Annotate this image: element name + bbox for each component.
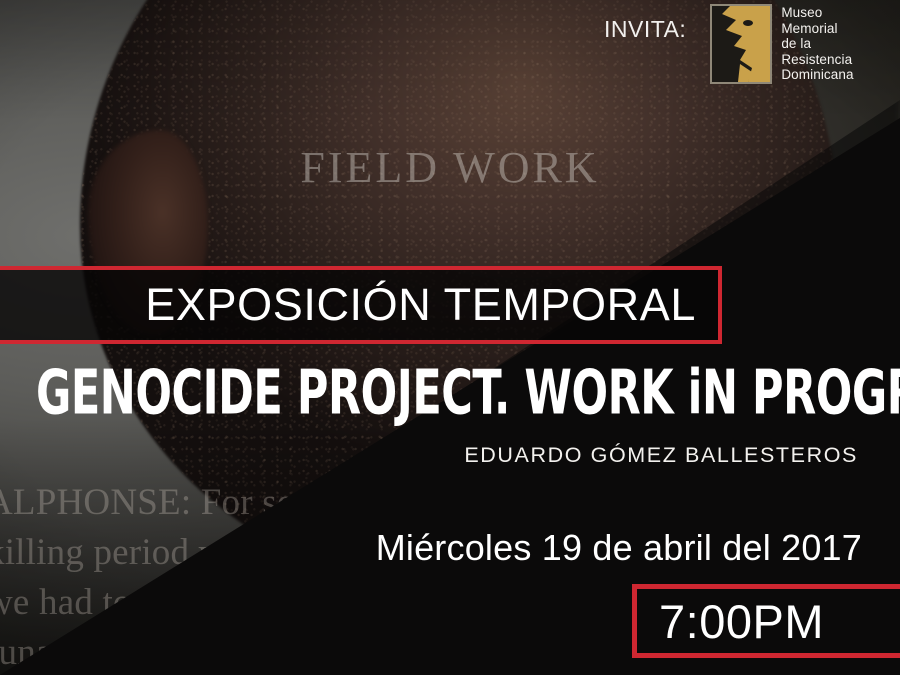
event-time-box: 7:00PM [632, 584, 900, 658]
exhibition-title: GENOCIDE PROJECT. WORK iN PROGRESS [36, 358, 864, 429]
exhibition-kicker-box: EXPOSICIÓN TEMPORAL [0, 266, 722, 344]
logo-line-2: Memorial [781, 21, 853, 37]
event-time-label: 7:00PM [659, 594, 824, 649]
invita-row: INVITA: Museo Memorial de la Resistencia… [604, 4, 854, 84]
logo-line-4: Resistencia [781, 52, 853, 68]
logo-line-5: Dominicana [781, 67, 853, 83]
logo-line-1: Museo [781, 5, 853, 21]
museum-logo-text: Museo Memorial de la Resistencia Dominic… [781, 4, 853, 83]
museum-logo: Museo Memorial de la Resistencia Dominic… [710, 4, 853, 84]
invita-label: INVITA: [604, 4, 686, 43]
exhibition-kicker-label: EXPOSICIÓN TEMPORAL [145, 279, 696, 331]
event-poster: ALPHONSE: For someone plodding up the sl… [0, 0, 900, 675]
logo-line-3: de la [781, 36, 853, 52]
event-date: Miércoles 19 de abril del 2017 [0, 527, 862, 569]
field-work-watermark: FIELD WORK [0, 142, 900, 193]
museum-logo-mark-icon [710, 4, 772, 84]
artist-name: EDUARDO GÓMEZ BALLESTEROS [0, 443, 858, 468]
